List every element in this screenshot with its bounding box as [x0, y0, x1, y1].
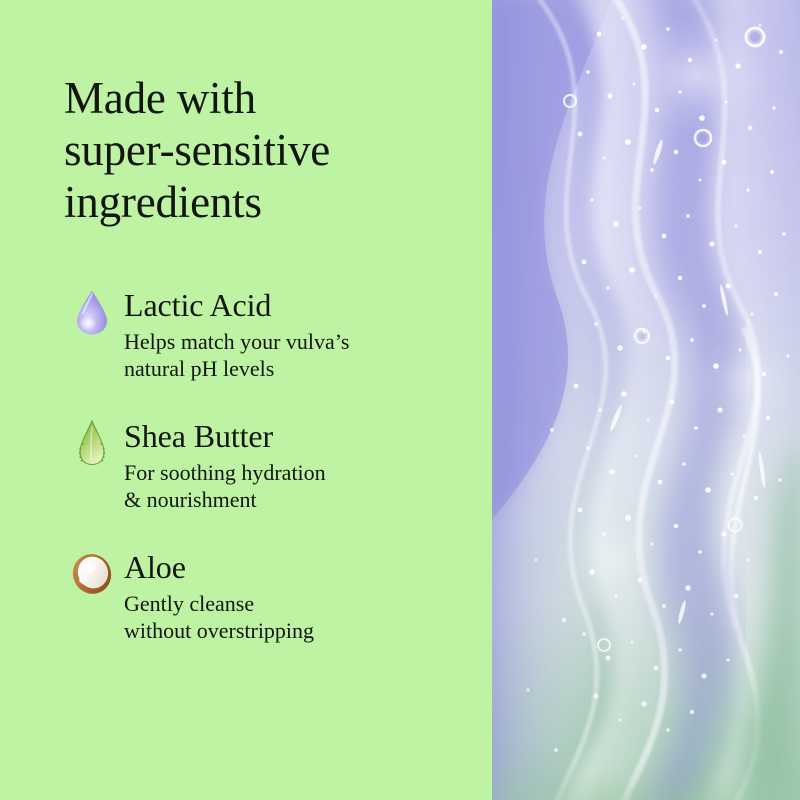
ingredient-name: Aloe — [124, 548, 474, 586]
ingredients-panel: Made with super-sensitive ingredients — [0, 0, 800, 800]
ingredient-description: Gently cleanse without overstripping — [124, 590, 474, 644]
left-content-panel: Made with super-sensitive ingredients — [0, 0, 492, 800]
ingredient-text-lactic-acid: Lactic Acid Helps match your vulva’s nat… — [64, 286, 474, 382]
ingredient-text-aloe: Aloe Gently cleanse without overstrippin… — [64, 548, 474, 644]
list-item-shea-butter: Shea Butter For soothing hydration & nou… — [64, 417, 474, 522]
ingredient-name: Lactic Acid — [124, 286, 474, 324]
ingredient-desc-line-1: Helps match your vulva’s — [124, 328, 474, 355]
ingredient-text-shea-butter: Shea Butter For soothing hydration & nou… — [64, 417, 474, 513]
ingredient-description: For soothing hydration & nourishment — [124, 459, 474, 513]
ingredient-desc-line-2: without overstripping — [124, 617, 474, 644]
page-title: Made with super-sensitive ingredients — [64, 72, 464, 228]
list-item-aloe: Aloe Gently cleanse without overstrippin… — [64, 548, 474, 653]
list-item-lactic-acid: Lactic Acid Helps match your vulva’s nat… — [64, 286, 474, 391]
aloe-leaf-icon — [70, 419, 114, 467]
headline-line-3: ingredients — [64, 176, 464, 228]
headline-line-1: Made with — [64, 72, 464, 124]
ingredient-name: Shea Butter — [124, 417, 474, 455]
droplet-icon — [70, 288, 114, 336]
ingredient-list: Lactic Acid Helps match your vulva’s nat… — [64, 286, 474, 653]
ingredient-description: Helps match your vulva’s natural pH leve… — [124, 328, 474, 382]
headline-line-2: super-sensitive — [64, 124, 464, 176]
coconut-icon — [70, 550, 114, 598]
ingredient-desc-line-1: Gently cleanse — [124, 590, 474, 617]
gel-texture-photo — [492, 0, 800, 800]
ingredient-desc-line-2: natural pH levels — [124, 355, 474, 382]
ingredient-desc-line-1: For soothing hydration — [124, 459, 474, 486]
ingredient-desc-line-2: & nourishment — [124, 486, 474, 513]
